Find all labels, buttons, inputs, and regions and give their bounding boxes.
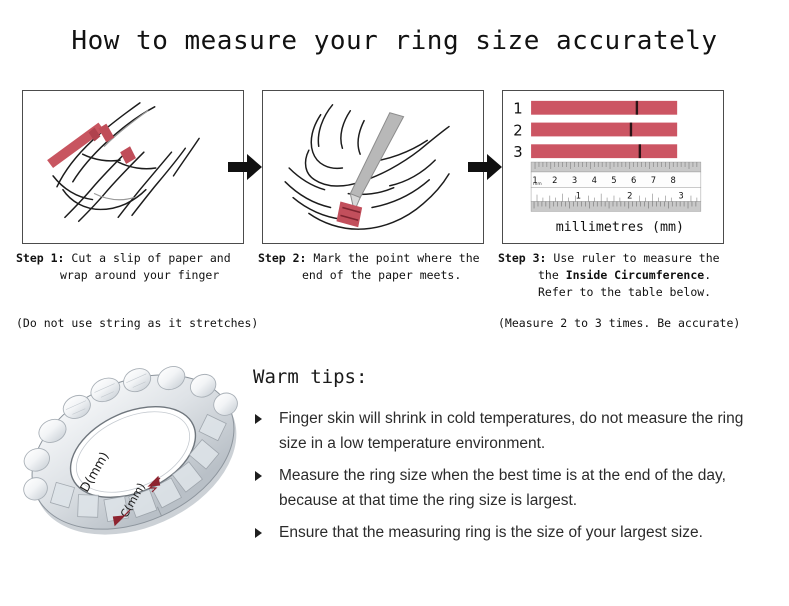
marked-paper-strip [336,202,362,228]
svg-text:4: 4 [592,175,597,185]
arrow-right-icon-1 [228,152,262,182]
strip-bars [531,101,677,158]
tip-item: Measure the ring size when the best time… [253,463,749,513]
pen-icon [350,113,403,212]
ring-figure: D(mm) C(mm) [14,352,252,557]
ring-illustration: D(mm) C(mm) [14,352,252,557]
svg-text:3: 3 [678,191,683,201]
step-3-line-2-pre: the [538,268,566,282]
paper-strip [47,123,104,168]
step-3-note: (Measure 2 to 3 times. Be accurate) [498,316,740,330]
tip-text: Finger skin will shrink in cold temperat… [279,410,743,452]
svg-text:2: 2 [552,175,557,185]
strip-label-1: 1 [513,101,522,118]
step-1-panel [22,90,244,244]
strips-and-ruler-illustration: 1 2 3 [503,91,723,243]
warm-tips-heading: Warm tips: [253,366,773,388]
step-captions: Step 1: Cut a slip of paper and wrap aro… [0,250,789,350]
step-3-line-1: Use ruler to measure the [553,251,719,265]
svg-text:6: 6 [631,175,636,185]
svg-text:3: 3 [572,175,577,185]
step-2-caption: Step 2: Mark the point where the end of … [258,250,510,284]
tip-item: Ensure that the measuring ring is the si… [253,520,749,545]
step-3-line-3: Refer to the table below. [498,284,750,301]
step-1-label: Step 1: [16,251,64,265]
svg-text:1: 1 [576,191,581,201]
step-2-line-2: end of the paper meets. [258,267,510,284]
triangle-bullet-icon [255,414,262,424]
page-title: How to measure your ring size accurately [0,26,789,56]
ruler-unit-caption: millimetres (mm) [556,220,684,235]
step-2-panel [262,90,484,244]
step-3-caption: Step 3: Use ruler to measure the the Ins… [498,250,750,301]
step-1-line-2: wrap around your finger [16,267,268,284]
tip-text: Ensure that the measuring ring is the si… [279,524,703,541]
tip-item: Finger skin will shrink in cold temperat… [253,406,749,456]
svg-text:mm: mm [533,182,542,187]
svg-text:5: 5 [611,175,616,185]
strip-label-3: 3 [513,144,522,161]
step-3-label: Step 3: [498,251,546,265]
step-2-line-1: Mark the point where the [313,251,479,265]
warm-tips-section: Warm tips: Finger skin will shrink in co… [253,366,773,552]
step-3-line-2-post: . [704,268,711,282]
step-1-note: (Do not use string as it stretches) [16,316,258,330]
hand-marking-with-pen-illustration [263,91,483,243]
svg-text:2: 2 [627,191,632,201]
step-1-line-1: Cut a slip of paper and [71,251,230,265]
strip-label-2: 2 [513,122,522,139]
tip-text: Measure the ring size when the best time… [279,467,726,509]
step-2-label: Step 2: [258,251,306,265]
arrow-right-icon-2 [468,152,502,182]
step-3-inside-circumference: Inside Circumference [566,268,704,282]
step-1-caption: Step 1: Cut a slip of paper and wrap aro… [16,250,268,284]
svg-text:8: 8 [671,175,676,185]
ruler: 1 2 3 4 5 6 7 8 mm 1 2 3 [531,162,701,211]
svg-text:7: 7 [651,175,656,185]
triangle-bullet-icon [255,471,262,481]
step-3-panel: 1 2 3 [502,90,724,244]
triangle-bullet-icon [255,528,262,538]
hand-with-paper-strip-illustration [23,91,243,243]
steps-row: 1 2 3 [0,90,789,255]
